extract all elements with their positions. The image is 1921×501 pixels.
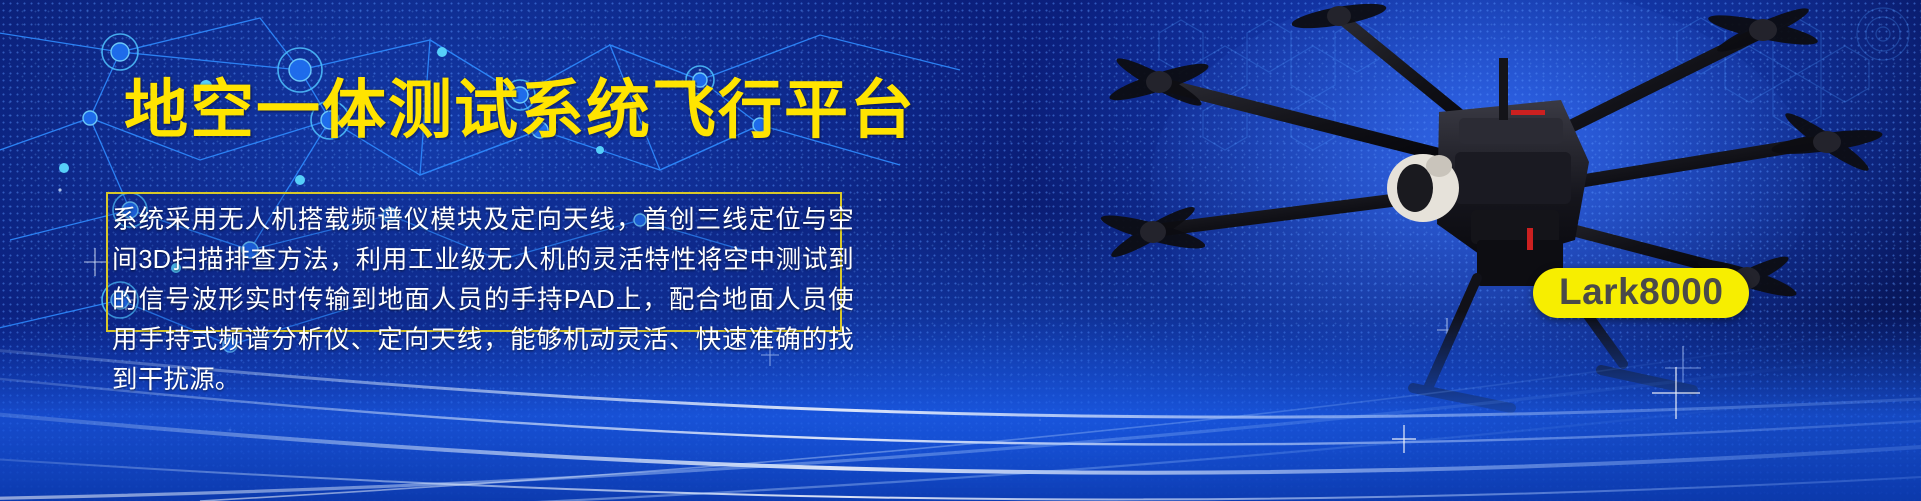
- product-banner: 地空一体测试系统飞行平台 系统采用无人机搭载频谱仪模块及定向天线，首创三线定位与…: [0, 0, 1921, 501]
- description-text: 系统采用无人机搭载频谱仪模块及定向天线，首创三线定位与空间3D扫描排查方法，利用…: [112, 200, 854, 400]
- hexagon-grid-icon: [1141, 0, 1921, 300]
- model-badge-label: Lark8000: [1559, 273, 1723, 310]
- model-badge: Lark8000: [1533, 268, 1749, 318]
- drone-photo: [1041, 0, 1921, 422]
- page-title: 地空一体测试系统飞行平台: [124, 78, 916, 142]
